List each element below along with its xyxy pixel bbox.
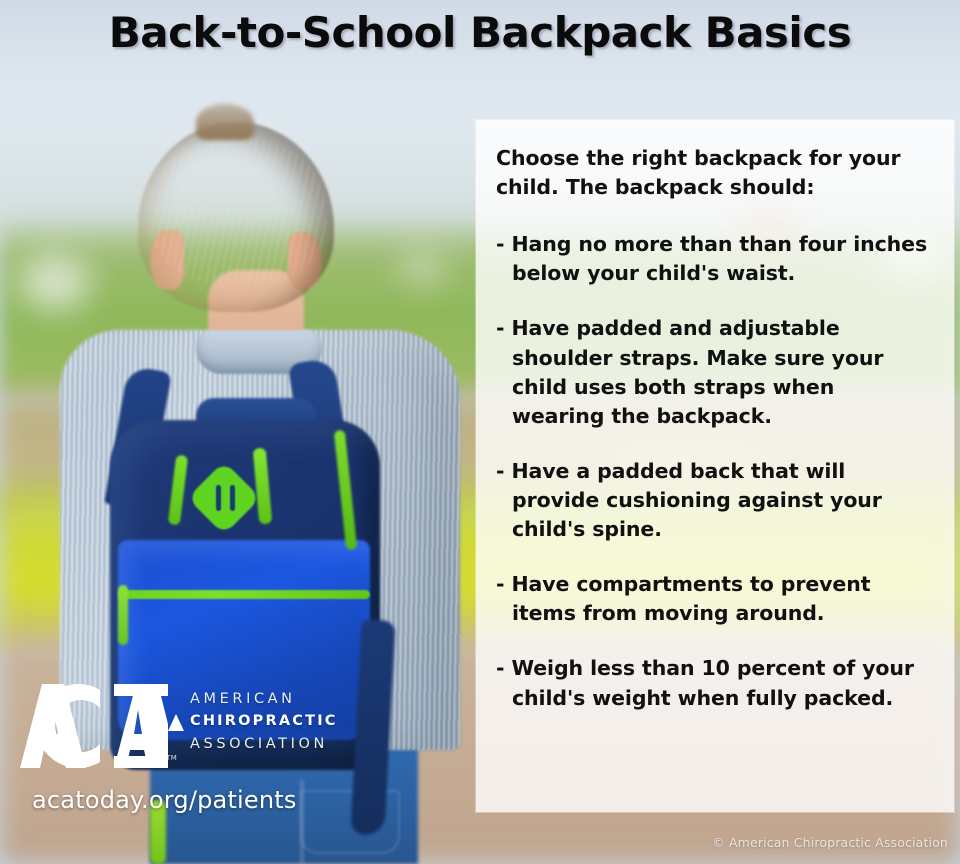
aca-line-association: ASSOCIATION [190, 733, 380, 755]
aca-wordmark-icon [18, 684, 168, 768]
trademark-symbol: TM [166, 754, 177, 762]
aca-triangle-icon [168, 714, 184, 731]
aca-line-american: AMERICAN [190, 688, 380, 710]
title-bar: Back-to-School Backpack Basics [0, 0, 960, 80]
advice-bullet-4: - Have compartments to prevent items fro… [496, 570, 932, 628]
aca-website-url[interactable]: acatoday.org/patients [32, 786, 297, 814]
advice-bullet-5: - Weigh less than 10 percent of your chi… [496, 654, 932, 712]
copyright-notice: © American Chiropractic Association [712, 835, 948, 850]
backpack-logo-slit [230, 485, 235, 511]
panel-intro-text: Choose the right backpack for your child… [496, 144, 932, 202]
backpack-zipper [118, 590, 370, 599]
advice-bullet-2: - Have padded and adjustable shoulder st… [496, 314, 932, 430]
advice-panel: Choose the right backpack for your child… [476, 120, 954, 812]
hair-strands [150, 135, 326, 285]
backpack-logo-slit [216, 485, 221, 511]
page-title: Back-to-School Backpack Basics [0, 8, 960, 57]
aca-org-name: AMERICAN CHIROPRACTIC ASSOCIATION [190, 688, 380, 755]
backpack-zipper-pull [118, 585, 128, 645]
advice-bullet-3: - Have a padded back that will provide c… [496, 457, 932, 544]
aca-line-chiropractic: CHIROPRACTIC [190, 710, 380, 732]
hair-tuft [196, 104, 254, 140]
aca-logo: TM AMERICAN CHIROPRACTIC ASSOCIATION [18, 684, 368, 780]
infographic-poster: Back-to-School Backpack Basics Choose th… [0, 0, 960, 864]
advice-bullet-1: - Hang no more than than four inches bel… [496, 230, 932, 288]
